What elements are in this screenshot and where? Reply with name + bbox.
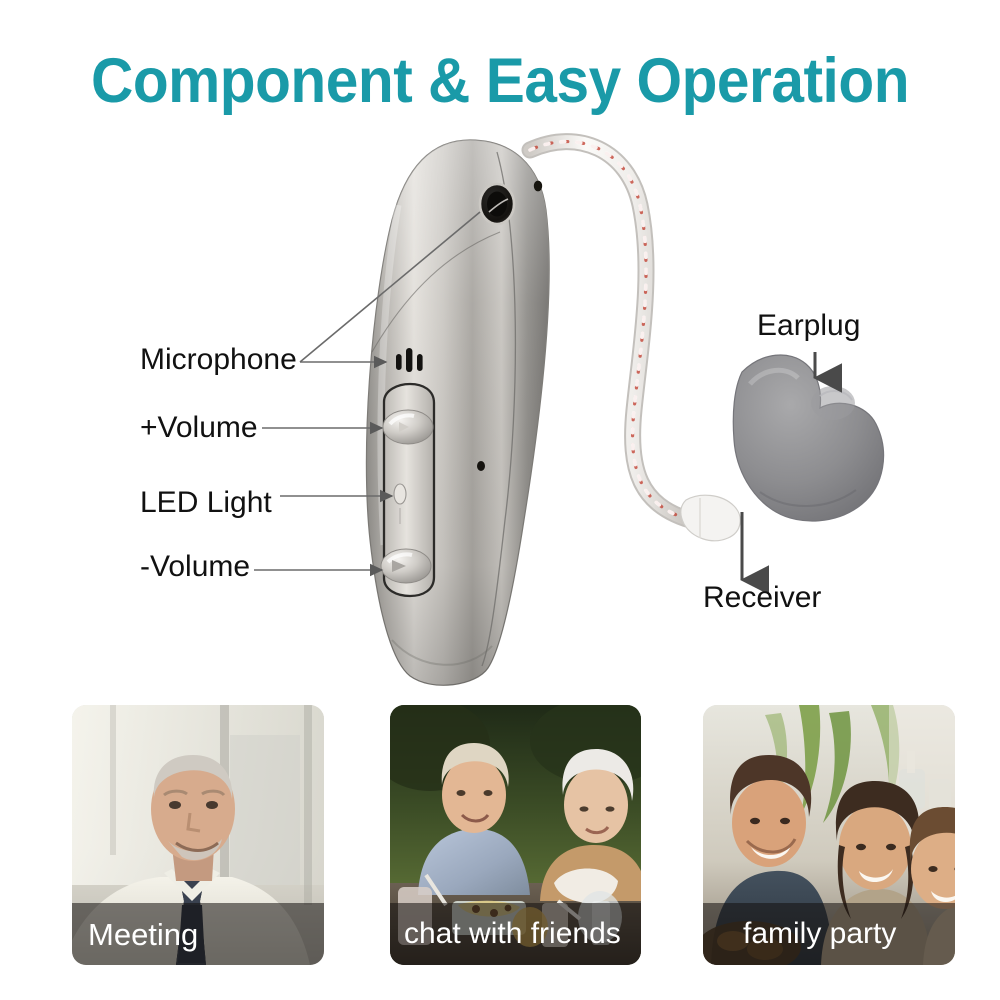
caption-bar-meeting: Meeting	[72, 903, 324, 965]
caption-bar-chat: chat with friends	[390, 903, 641, 965]
label-microphone: Microphone	[140, 345, 297, 375]
ear-hook-tube	[530, 142, 690, 520]
caption-family-party: family party	[703, 919, 896, 949]
label-earplug: Earplug	[757, 311, 860, 341]
caption-bar-family: family party	[703, 903, 955, 965]
earplug-dome	[681, 355, 884, 541]
use-case-card-chat[interactable]: chat with friends	[390, 705, 641, 965]
use-case-card-meeting[interactable]: Meeting	[72, 705, 324, 965]
body-pinhole-icon	[477, 461, 485, 471]
use-case-cards: Meeting	[0, 700, 1000, 1000]
label-led-light: LED Light	[140, 488, 272, 518]
use-case-card-family[interactable]: family party	[703, 705, 955, 965]
secondary-mic-pinhole-icon	[534, 181, 542, 192]
caption-meeting: Meeting	[72, 919, 198, 950]
hearing-aid-body	[366, 140, 549, 685]
volume-down-button[interactable]	[381, 549, 431, 583]
label-volume-down: -Volume	[140, 552, 250, 582]
volume-up-button[interactable]	[383, 410, 433, 444]
control-panel	[381, 384, 434, 596]
product-diagram: Microphone +Volume LED Light -Volume Ear…	[0, 0, 1000, 700]
label-volume-up: +Volume	[140, 413, 258, 443]
caption-chat-with-friends: chat with friends	[390, 919, 621, 949]
led-indicator-icon	[394, 484, 406, 504]
label-receiver: Receiver	[703, 583, 821, 613]
receiver-housing	[681, 495, 740, 541]
